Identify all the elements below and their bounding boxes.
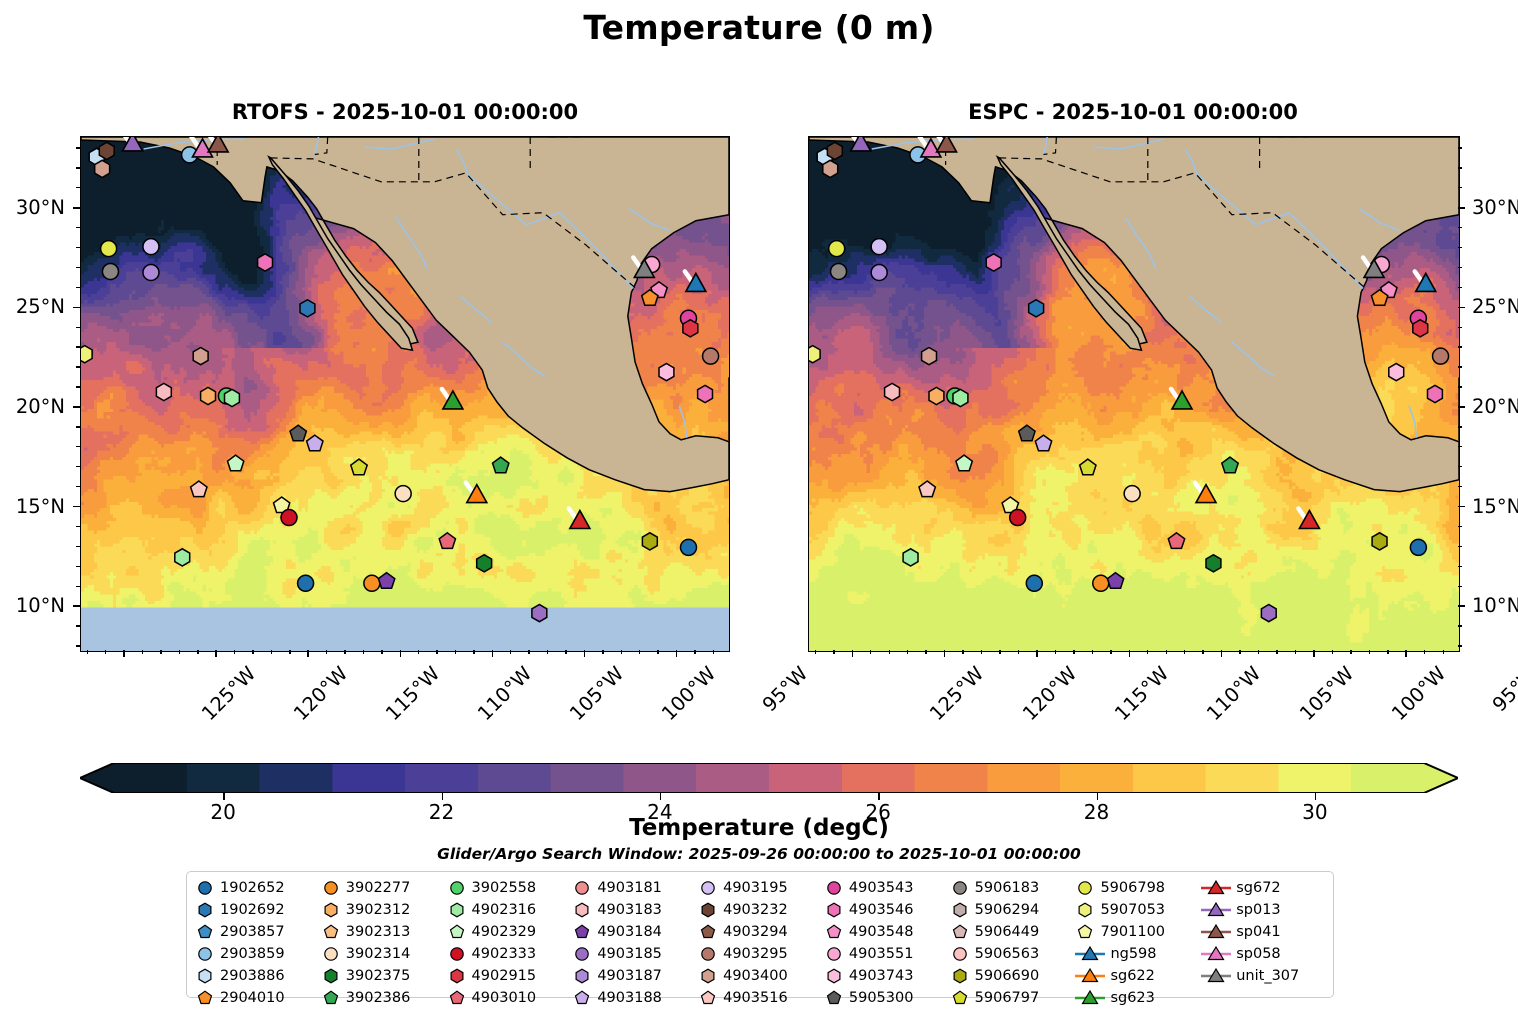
x-tick-minor	[1387, 650, 1388, 654]
x-axis-label: 115°W	[1079, 662, 1173, 756]
x-tick	[307, 650, 309, 657]
legend-item[interactable]: 2903857	[195, 921, 321, 943]
x-tick	[400, 650, 402, 657]
x-tick	[1313, 650, 1315, 657]
x-axis-label: 125°W	[166, 662, 260, 756]
legend-marker-circle-icon	[572, 877, 592, 899]
colorbar-tick	[1097, 793, 1098, 800]
legend-marker-circle-icon	[447, 943, 467, 965]
search-window-text: Glider/Argo Search Window: 2025-09-26 00…	[0, 845, 1518, 863]
legend-item[interactable]: 5906563	[950, 943, 1076, 965]
legend-item[interactable]: 2903886	[195, 965, 321, 987]
x-tick-minor	[179, 650, 180, 654]
x-axis-label: 110°W	[1172, 662, 1266, 756]
legend-marker-circle-icon	[447, 877, 467, 899]
y-tick-minor	[76, 327, 80, 328]
legend-label: 5906797	[975, 991, 1040, 1006]
legend-marker-circle-icon	[195, 943, 215, 965]
x-tick-minor	[142, 650, 143, 654]
legend-label: 4903400	[723, 969, 788, 984]
legend-item[interactable]: 5906183	[950, 877, 1076, 899]
x-tick-minor	[1147, 650, 1148, 654]
x-tick-minor	[528, 650, 529, 654]
legend-item[interactable]: 4902329	[447, 921, 573, 943]
x-tick-minor	[1369, 650, 1370, 654]
legend-marker-triangle-icon	[1201, 943, 1231, 965]
legend-item[interactable]: 5905300	[824, 987, 950, 1009]
y-tick-minor	[1458, 645, 1462, 646]
x-tick-minor	[1184, 650, 1185, 654]
y-tick-minor	[76, 287, 80, 288]
legend-label: 4903543	[849, 881, 914, 896]
legend-label: 5906294	[975, 903, 1040, 918]
legend-item[interactable]: 5906294	[950, 899, 1076, 921]
legend-marker-hexagon-icon	[950, 899, 970, 921]
legend-item[interactable]: 7901100	[1075, 921, 1201, 943]
legend-marker-pentagon-icon	[698, 987, 718, 1009]
x-tick-minor	[1276, 650, 1277, 654]
legend-label: 3902386	[346, 991, 411, 1006]
legend-label: 3902277	[346, 881, 411, 896]
x-tick-minor	[271, 650, 272, 654]
colorbar-tick	[660, 793, 661, 800]
legend-label: 3902312	[346, 903, 411, 918]
x-tick	[215, 650, 217, 657]
legend-item[interactable]: 4903294	[698, 921, 824, 943]
y-tick-minor	[76, 446, 80, 447]
legend-marker-triangle-icon	[1201, 965, 1231, 987]
legend-item[interactable]: 4903743	[824, 965, 950, 987]
x-tick-minor	[436, 650, 437, 654]
legend-label: 4902316	[472, 903, 537, 918]
legend-label: 3902314	[346, 947, 411, 962]
x-tick-minor	[1202, 650, 1203, 654]
y-axis-label: 20°N	[1472, 395, 1518, 418]
panel-title-espc: ESPC - 2025-10-01 00:00:00	[808, 100, 1458, 124]
legend-marker-pentagon-icon	[1075, 921, 1095, 943]
legend-item[interactable]: 4903295	[698, 943, 824, 965]
legend-marker-hexagon-icon	[447, 899, 467, 921]
legend-item[interactable]: 3902313	[321, 921, 447, 943]
legend-marker-pentagon-icon	[572, 987, 592, 1009]
x-tick-minor	[1350, 650, 1351, 654]
y-axis-label: 10°N	[1472, 594, 1518, 617]
legend-label: 4903294	[723, 925, 788, 940]
legend-label: 4903548	[849, 925, 914, 940]
legend-marker-hexagon-icon	[698, 899, 718, 921]
y-tick-minor	[1458, 287, 1462, 288]
legend-marker-hexagon-icon	[195, 965, 215, 987]
legend-marker-triangle-icon	[1201, 877, 1231, 899]
legend-item[interactable]: 4903184	[572, 921, 698, 943]
y-tick-minor	[76, 147, 80, 148]
y-tick-minor	[1458, 227, 1462, 228]
legend-marker-hexagon-icon	[321, 965, 341, 987]
legend-marker-pentagon-icon	[321, 921, 341, 943]
x-tick-minor	[713, 650, 714, 654]
x-tick	[1221, 650, 1223, 657]
y-tick-minor	[1458, 546, 1462, 547]
legend-label: 4903743	[849, 969, 914, 984]
legend-label: 4902915	[472, 969, 537, 984]
legend-label: 4903295	[723, 947, 788, 962]
legend-marker-triangle-icon	[1201, 921, 1231, 943]
x-tick-minor	[1166, 650, 1167, 654]
x-axis-label: 125°W	[895, 662, 989, 756]
legend-item[interactable]: 3902386	[321, 987, 447, 1009]
legend-label: 2904010	[220, 991, 285, 1006]
legend-item[interactable]: sp041	[1201, 921, 1327, 943]
legend-marker-circle-icon	[950, 943, 970, 965]
legend-item[interactable]: 4903195	[698, 877, 824, 899]
x-tick-minor	[1110, 650, 1111, 654]
y-tick-minor	[76, 386, 80, 387]
legend-label: 7901100	[1100, 925, 1165, 940]
colorbar-tick	[1315, 793, 1316, 800]
legend-item[interactable]: 3902277	[321, 877, 447, 899]
legend-item[interactable]: 5906798	[1075, 877, 1201, 899]
y-tick-minor	[76, 267, 80, 268]
legend-label: 1902652	[220, 881, 285, 896]
y-tick	[73, 406, 80, 408]
x-tick-minor	[1073, 650, 1074, 654]
map-panel-espc[interactable]	[808, 136, 1460, 652]
x-tick-minor	[815, 650, 816, 654]
figure-canvas: Temperature (0 m) RTOFS - 2025-10-01 00:…	[0, 0, 1518, 1015]
legend-label: 4903551	[849, 947, 914, 962]
x-tick	[1036, 650, 1038, 657]
legend-label: 4903181	[597, 881, 662, 896]
legend-label: 4903184	[597, 925, 662, 940]
y-tick-minor	[76, 247, 80, 248]
x-tick-minor	[252, 650, 253, 654]
x-tick	[852, 650, 854, 657]
legend-marker-circle-icon	[824, 943, 844, 965]
legend-item[interactable]: 5906797	[950, 987, 1076, 1009]
y-tick	[1458, 307, 1465, 309]
legend-label: sp013	[1236, 903, 1280, 918]
legend-marker-pentagon-icon	[195, 921, 215, 943]
x-tick-minor	[473, 650, 474, 654]
legend-marker-pentagon-icon	[321, 987, 341, 1009]
x-tick-minor	[621, 650, 622, 654]
x-tick-minor	[925, 650, 926, 654]
x-tick-minor	[381, 650, 382, 654]
legend-item[interactable]: sp013	[1201, 899, 1327, 921]
legend-label: sg623	[1110, 991, 1154, 1006]
y-tick	[1458, 406, 1465, 408]
legend-marker-circle-icon	[321, 943, 341, 965]
y-tick	[73, 605, 80, 607]
x-axis-label: 100°W	[627, 662, 721, 756]
legend-item[interactable]: sp058	[1201, 943, 1327, 965]
legend-marker-hexagon-icon	[1075, 899, 1095, 921]
y-tick-minor	[76, 546, 80, 547]
x-tick-minor	[870, 650, 871, 654]
x-tick-minor	[418, 650, 419, 654]
x-tick	[676, 650, 678, 657]
legend-label: 1902692	[220, 903, 285, 918]
legend-item[interactable]: 5907053	[1075, 899, 1201, 921]
x-tick	[944, 650, 946, 657]
legend-label: sp058	[1236, 947, 1280, 962]
legend-item[interactable]: 4902915	[447, 965, 573, 987]
legend-item[interactable]: 3902558	[447, 877, 573, 899]
x-axis-label: 105°W	[1264, 662, 1358, 756]
x-tick-minor	[289, 650, 290, 654]
legend-item[interactable]: unit_307	[1201, 965, 1327, 987]
legend-item[interactable]: 1902692	[195, 899, 321, 921]
y-tick-minor	[76, 187, 80, 188]
page-title: Temperature (0 m)	[0, 8, 1518, 47]
x-tick-minor	[602, 650, 603, 654]
x-tick-minor	[197, 650, 198, 654]
y-tick-minor	[1458, 267, 1462, 268]
x-axis-label: 120°W	[258, 662, 352, 756]
x-tick-minor	[565, 650, 566, 654]
legend-label: 4903010	[472, 991, 537, 1006]
y-tick-minor	[76, 466, 80, 467]
x-tick-minor	[160, 650, 161, 654]
x-tick-minor	[833, 650, 834, 654]
x-tick	[492, 650, 494, 657]
legend-label: 4903195	[723, 881, 788, 896]
x-tick-minor	[981, 650, 982, 654]
y-axis-label: 30°N	[1472, 196, 1518, 219]
legend-item[interactable]: 4903188	[572, 987, 698, 1009]
legend-item[interactable]: 3902312	[321, 899, 447, 921]
x-tick-minor	[1443, 650, 1444, 654]
x-tick-minor	[344, 650, 345, 654]
legend-label: sp041	[1236, 925, 1280, 940]
legend-item[interactable]: ng598	[1075, 943, 1201, 965]
y-tick-minor	[1458, 147, 1462, 148]
legend-item[interactable]: 5906449	[950, 921, 1076, 943]
y-axis-label: 15°N	[1472, 495, 1518, 518]
legend-item[interactable]: sg623	[1075, 987, 1201, 1009]
legend-label: 5906563	[975, 947, 1040, 962]
legend-marker-circle-icon	[824, 877, 844, 899]
legend-item[interactable]: 2903859	[195, 943, 321, 965]
legend-label: 3902313	[346, 925, 411, 940]
y-tick-minor	[1458, 327, 1462, 328]
legend-item[interactable]: 4903546	[824, 899, 950, 921]
y-axis-label: 30°N	[0, 196, 65, 219]
legend-marker-pentagon-icon	[195, 987, 215, 1009]
x-tick-minor	[1092, 650, 1093, 654]
legend-marker-hexagon-icon	[824, 899, 844, 921]
y-tick	[1458, 207, 1465, 209]
y-tick-minor	[76, 526, 80, 527]
colorbar-gradient	[80, 763, 1458, 793]
legend-label: 4903185	[597, 947, 662, 962]
y-tick-minor	[1458, 167, 1462, 168]
legend-label: 5907053	[1100, 903, 1165, 918]
x-tick-minor	[234, 650, 235, 654]
legend-item[interactable]: 3902314	[321, 943, 447, 965]
y-axis-label: 20°N	[0, 395, 65, 418]
legend-marker-pentagon-icon	[824, 921, 844, 943]
legend-item[interactable]: 4903400	[698, 965, 824, 987]
x-axis-label: 95°W	[719, 662, 813, 756]
legend-marker-pentagon-icon	[447, 921, 467, 943]
legend-marker-triangle-icon	[1075, 987, 1105, 1009]
y-tick-minor	[1458, 486, 1462, 487]
x-axis-label: 105°W	[535, 662, 629, 756]
y-tick-minor	[76, 625, 80, 626]
legend-label: 5905300	[849, 991, 914, 1006]
legend-box[interactable]: 1902652190269229038572903859290388629040…	[186, 871, 1334, 998]
legend-item[interactable]: 4903185	[572, 943, 698, 965]
y-axis-label: 15°N	[0, 495, 65, 518]
temperature-map-rtofs	[81, 137, 729, 651]
legend-item[interactable]: sg672	[1201, 877, 1327, 899]
colorbar-tick	[442, 793, 443, 800]
legend-marker-pentagon-icon	[950, 987, 970, 1009]
legend-item[interactable]: 1902652	[195, 877, 321, 899]
legend-marker-pentagon-icon	[950, 921, 970, 943]
legend-item[interactable]: 2904010	[195, 987, 321, 1009]
y-tick-minor	[1458, 187, 1462, 188]
legend-label: 3902558	[472, 881, 537, 896]
legend-marker-hexagon-icon	[447, 965, 467, 987]
legend-marker-circle-icon	[195, 877, 215, 899]
y-tick-minor	[1458, 466, 1462, 467]
legend-marker-circle-icon	[1075, 877, 1095, 899]
y-tick-minor	[76, 227, 80, 228]
y-tick-minor	[76, 167, 80, 168]
legend-marker-pentagon-icon	[698, 921, 718, 943]
y-tick-minor	[76, 566, 80, 567]
y-tick-minor	[1458, 625, 1462, 626]
x-tick	[1405, 650, 1407, 657]
x-tick-minor	[363, 650, 364, 654]
y-tick	[73, 307, 80, 309]
legend-marker-circle-icon	[698, 877, 718, 899]
legend-marker-pentagon-icon	[447, 987, 467, 1009]
x-axis-label: 115°W	[350, 662, 444, 756]
y-tick-minor	[1458, 526, 1462, 527]
legend-marker-hexagon-icon	[572, 965, 592, 987]
x-tick-minor	[639, 650, 640, 654]
legend-label: 4903516	[723, 991, 788, 1006]
x-tick-minor	[326, 650, 327, 654]
legend-item[interactable]: 4903187	[572, 965, 698, 987]
legend-label: 4903188	[597, 991, 662, 1006]
x-tick	[123, 650, 125, 657]
y-tick-minor	[1458, 366, 1462, 367]
legend-item[interactable]: 4902316	[447, 899, 573, 921]
x-tick-minor	[1055, 650, 1056, 654]
legend-item[interactable]: 4903516	[698, 987, 824, 1009]
x-tick-minor	[889, 650, 890, 654]
y-tick-minor	[1458, 426, 1462, 427]
legend-label: 5906798	[1100, 881, 1165, 896]
x-axis-label: 110°W	[443, 662, 537, 756]
legend-label: 5906690	[975, 969, 1040, 984]
y-tick-minor	[76, 486, 80, 487]
legend-label: 2903857	[220, 925, 285, 940]
x-tick-minor	[999, 650, 1000, 654]
y-tick-minor	[76, 426, 80, 427]
x-tick-minor	[455, 650, 456, 654]
panel-title-rtofs: RTOFS - 2025-10-01 00:00:00	[80, 100, 730, 124]
temperature-map-espc	[809, 137, 1459, 651]
legend-item[interactable]: 4903181	[572, 877, 698, 899]
x-axis-label: 95°W	[1448, 662, 1518, 756]
legend-marker-triangle-icon	[1201, 899, 1231, 921]
legend-item[interactable]: 4903232	[698, 899, 824, 921]
x-axis-label: 120°W	[987, 662, 1081, 756]
legend-label: 5906449	[975, 925, 1040, 940]
y-tick-minor	[1458, 346, 1462, 347]
colorbar	[80, 763, 1458, 793]
x-tick-minor	[1295, 650, 1296, 654]
legend-marker-hexagon-icon	[195, 899, 215, 921]
legend-label: 4902329	[472, 925, 537, 940]
x-tick-minor	[1239, 650, 1240, 654]
x-tick	[1129, 650, 1131, 657]
legend-item[interactable]: 4902333	[447, 943, 573, 965]
legend-marker-hexagon-icon	[698, 965, 718, 987]
colorbar-tick	[878, 793, 879, 800]
legend-item[interactable]: 5906690	[950, 965, 1076, 987]
legend-item[interactable]: 4903010	[447, 987, 573, 1009]
y-tick-minor	[1458, 566, 1462, 567]
y-tick	[1458, 605, 1465, 607]
legend-item[interactable]: 4903548	[824, 921, 950, 943]
y-tick-minor	[76, 366, 80, 367]
y-tick-minor	[1458, 386, 1462, 387]
x-tick-minor	[907, 650, 908, 654]
legend-item[interactable]: 3902375	[321, 965, 447, 987]
legend-label: 5906183	[975, 881, 1040, 896]
legend-marker-circle-icon	[698, 943, 718, 965]
legend-marker-circle-icon	[572, 943, 592, 965]
legend-label: 4902333	[472, 947, 537, 962]
legend-item[interactable]: 4903551	[824, 943, 950, 965]
y-tick-minor	[1458, 247, 1462, 248]
legend-marker-hexagon-icon	[950, 965, 970, 987]
x-tick-minor	[105, 650, 106, 654]
x-tick-minor	[510, 650, 511, 654]
legend-label: unit_307	[1236, 969, 1299, 984]
x-tick-minor	[1018, 650, 1019, 654]
y-tick	[1458, 506, 1465, 508]
legend-item[interactable]: 4903543	[824, 877, 950, 899]
x-tick-minor	[87, 650, 88, 654]
legend-marker-hexagon-icon	[824, 965, 844, 987]
map-panel-rtofs[interactable]	[80, 136, 730, 652]
legend-grid: 1902652190269229038572903859290388629040…	[195, 877, 1327, 993]
legend-item[interactable]: 4903183	[572, 899, 698, 921]
legend-marker-triangle-icon	[1075, 943, 1105, 965]
x-tick-minor	[547, 650, 548, 654]
legend-item[interactable]: sg622	[1075, 965, 1201, 987]
legend-label: 4903546	[849, 903, 914, 918]
legend-label: 2903886	[220, 969, 285, 984]
legend-marker-pentagon-icon	[572, 921, 592, 943]
y-axis-label: 10°N	[0, 594, 65, 617]
y-tick-minor	[1458, 446, 1462, 447]
y-tick-minor	[1458, 586, 1462, 587]
legend-label: sg672	[1236, 881, 1280, 896]
colorbar-tick	[223, 793, 224, 800]
legend-label: 2903859	[220, 947, 285, 962]
x-tick-minor	[694, 650, 695, 654]
legend-label: 4903187	[597, 969, 662, 984]
legend-label: sg622	[1110, 969, 1154, 984]
